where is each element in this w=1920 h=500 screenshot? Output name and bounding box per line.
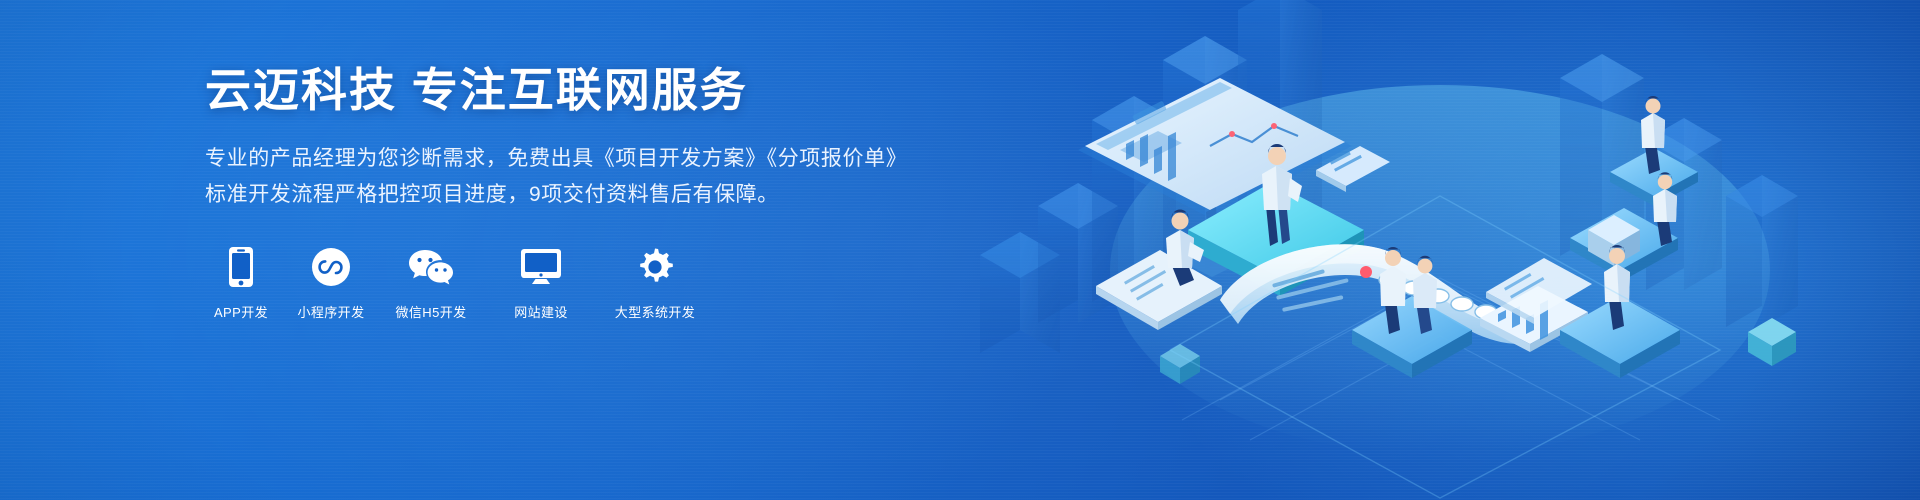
isometric-illustration (920, 0, 1920, 500)
service-label-wechat-h5: 微信H5开发 (395, 302, 466, 321)
service-item-wechat-h5[interactable]: 微信H5开发 (385, 246, 477, 321)
service-item-website[interactable]: 网站建设 (495, 246, 587, 321)
service-list: APP开发 小程序开发 (205, 246, 965, 321)
banner-content: 云迈科技 专注互联网服务 专业的产品经理为您诊断需求，免费出具《项目开发方案》《… (205, 62, 965, 321)
service-label-website: 网站建设 (514, 302, 568, 321)
wechat-icon (408, 246, 454, 288)
subtitle-line-2: 标准开发流程严格把控项目进度，9项交付资料售后有保障。 (205, 178, 965, 212)
monitor-icon (518, 246, 564, 288)
service-label-large-system: 大型系统开发 (615, 302, 695, 321)
service-item-large-system[interactable]: 大型系统开发 (605, 246, 705, 321)
gear-icon (632, 246, 678, 288)
mobile-phone-icon (218, 246, 264, 288)
page-title: 云迈科技 专注互联网服务 (205, 62, 965, 120)
service-label-app: APP开发 (214, 302, 268, 321)
service-label-mini-program: 小程序开发 (297, 302, 364, 321)
subtitle-line-1: 专业的产品经理为您诊断需求，免费出具《项目开发方案》《分项报价单》 (205, 142, 965, 176)
service-item-mini-program[interactable]: 小程序开发 (295, 246, 367, 321)
service-item-app[interactable]: APP开发 (205, 246, 277, 321)
mini-program-icon (308, 246, 354, 288)
hero-banner: 云迈科技 专注互联网服务 专业的产品经理为您诊断需求，免费出具《项目开发方案》《… (0, 0, 1920, 500)
